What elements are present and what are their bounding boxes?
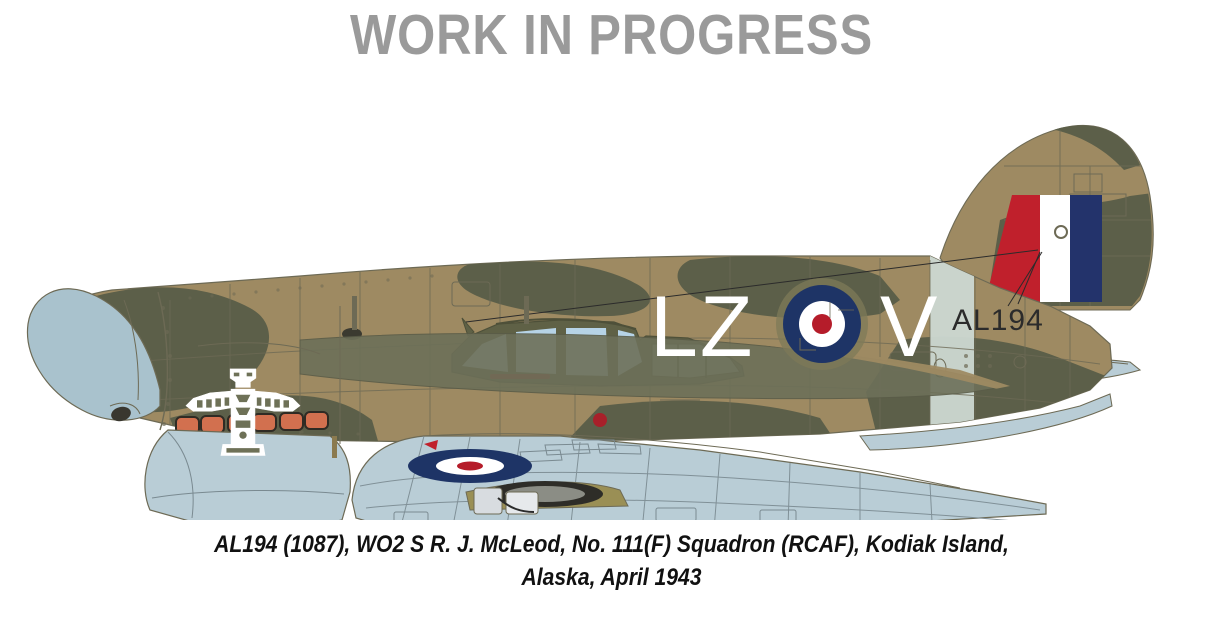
individual-letter-text: V: [880, 279, 937, 375]
antenna-post-front: [352, 296, 357, 330]
antenna-post-rear: [524, 296, 529, 324]
aircraft-profile-illustration: LZ V AL194: [0, 100, 1223, 520]
profile-caption: AL194 (1087), WO2 S R. J. McLeod, No. 11…: [0, 528, 1223, 594]
gear-door-inner: [474, 488, 502, 514]
serial-number-text: AL194: [952, 304, 1044, 337]
underwing-roundel: [408, 449, 532, 483]
fuselage-roundel: [776, 278, 868, 370]
lower-wing-group: [352, 434, 1046, 520]
profile-artwork-page: WORK IN PROGRESS: [0, 0, 1223, 626]
fin-flash-blue: [1070, 195, 1102, 302]
page-title: WORK IN PROGRESS: [86, 6, 1138, 66]
squadron-code-left-text: LZ: [650, 279, 754, 375]
caption-line-1: AL194 (1087), WO2 S R. J. McLeod, No. 11…: [73, 528, 1149, 561]
lower-red-light: [593, 413, 607, 427]
caption-line-2: Alaska, April 1943: [73, 561, 1149, 594]
fin-flash-white: [1040, 195, 1070, 302]
wing-root-fillet-marker: [332, 436, 337, 458]
roundel-red-center: [812, 314, 832, 334]
